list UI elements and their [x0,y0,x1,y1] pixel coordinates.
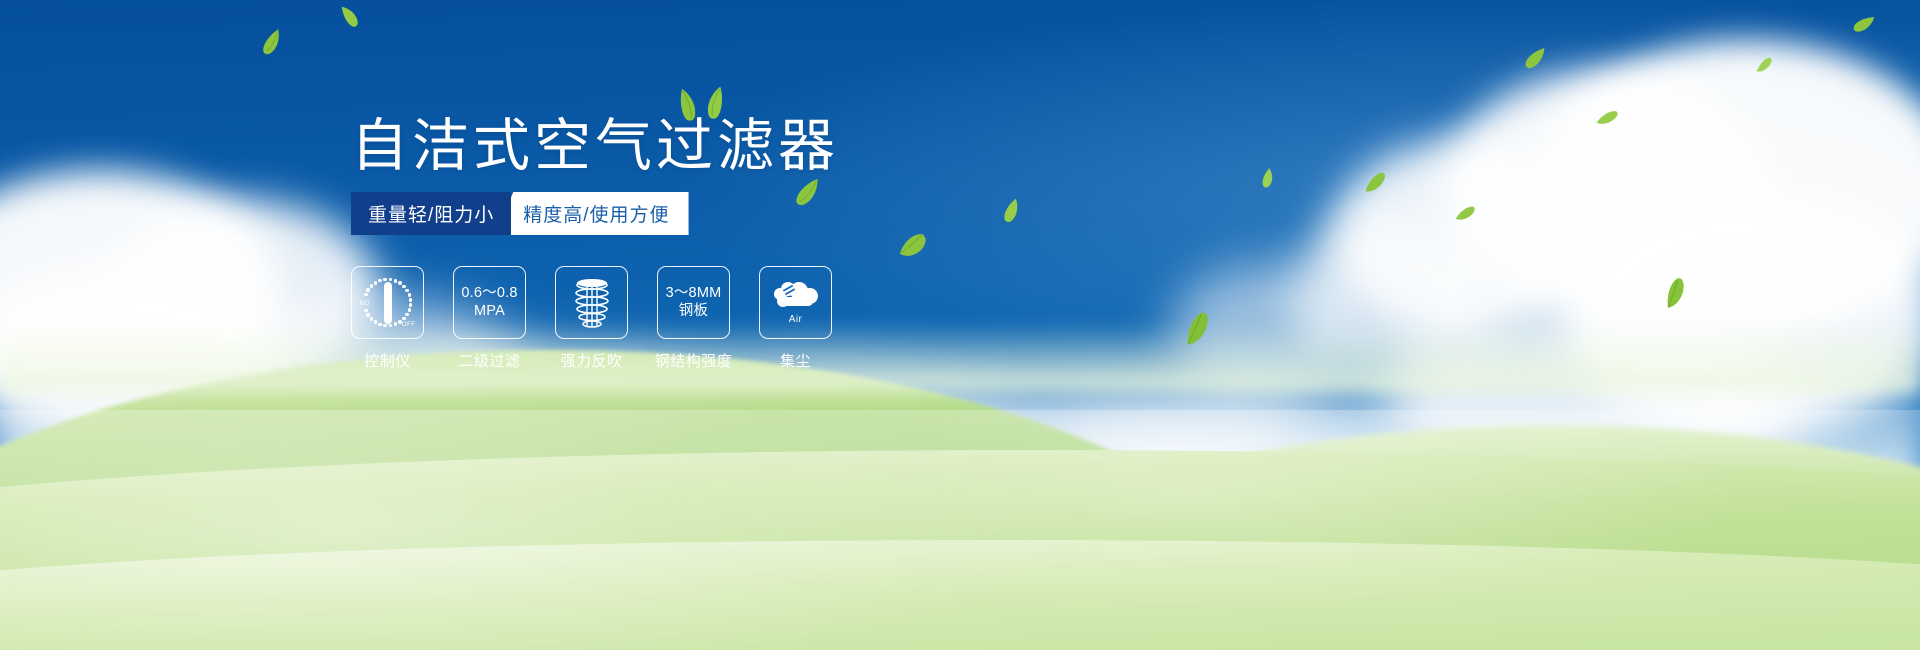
feature-label: 控制仪 [364,350,411,371]
dial-tick-dot [408,293,411,296]
dial-tick-dot [408,308,411,311]
dial-tick-dot [383,324,386,327]
dial-tick-dot [389,324,392,327]
pressure-range-text: 0.6～0.8 [461,285,517,303]
feature-item-backblow[interactable]: 强力反吹 [555,266,628,371]
cloud-air-icon [771,281,821,313]
dial-tick-dot [402,317,405,320]
steel-plate-text: 钢板 [679,303,708,321]
dial-tick-dot [374,320,377,323]
page-title: 自洁式空气过滤器 [351,118,839,175]
feature-item-dust[interactable]: Air 集尘 [759,266,832,371]
dial-tick-dot [405,289,408,292]
feature-icon-box: 3～8MM 钢板 [657,266,730,339]
dial-needle [384,282,392,324]
feature-label: 强力反吹 [560,350,622,371]
banner-content: 自洁式空气过滤器 重量轻/阻力小 精度高/使用方便 NO OFF 控制仪 [0,0,1920,650]
dial-tick-dot [378,323,381,326]
banner-stage: 自洁式空气过滤器 重量轻/阻力小 精度高/使用方便 NO OFF 控制仪 [0,0,1920,650]
dial-tick-dot [370,317,373,320]
feature-list: NO OFF 控制仪 0.6～0.8 MPA 二级过滤 [351,266,832,371]
dial-tick-dot [398,281,401,284]
dial-tick-dot [364,309,367,312]
dial-tick-dot [370,284,373,287]
feature-label: 二级过滤 [458,350,520,371]
dial-off-label: OFF [402,321,416,328]
dial-tick-dot [398,320,401,323]
dial-tick-dot [366,288,369,291]
dial-tick-dot [409,298,412,301]
badge-left-text: 重量轻/阻力小 [351,192,511,235]
feature-icon-box [555,266,628,339]
dial-gauge-icon: NO OFF [359,274,417,332]
dial-no-label: NO [360,300,370,307]
pressure-unit-text: MPA [474,303,505,321]
air-label: Air [789,314,802,325]
dial-tick-dot [366,313,369,316]
feature-icon-box: 0.6～0.8 MPA [453,266,526,339]
dial-tick-dot [405,313,408,316]
filter-cartridge-icon [569,278,615,328]
dial-tick-dot [364,293,367,296]
feature-label: 钢结构强度 [655,350,733,371]
dial-tick-dot [394,322,397,325]
badge-right-text: 精度高/使用方便 [495,192,688,235]
dial-tick-dot [378,279,381,282]
feature-item-steel[interactable]: 3～8MM 钢板 钢结构强度 [657,266,730,371]
dial-tick-dot [389,278,392,281]
dial-tick-dot [394,279,397,282]
dial-tick-dot [402,285,405,288]
steel-thickness-text: 3～8MM [666,285,722,303]
feature-label: 集尘 [780,350,811,371]
dial-tick-dot [374,281,377,284]
feature-icon-box: Air [759,266,832,339]
feature-icon-box: NO OFF [351,266,424,339]
feature-item-pressure[interactable]: 0.6～0.8 MPA 二级过滤 [453,266,526,371]
feature-badge: 重量轻/阻力小 精度高/使用方便 [351,192,689,235]
dial-tick-dot [409,303,412,306]
feature-item-controller[interactable]: NO OFF 控制仪 [351,266,424,371]
